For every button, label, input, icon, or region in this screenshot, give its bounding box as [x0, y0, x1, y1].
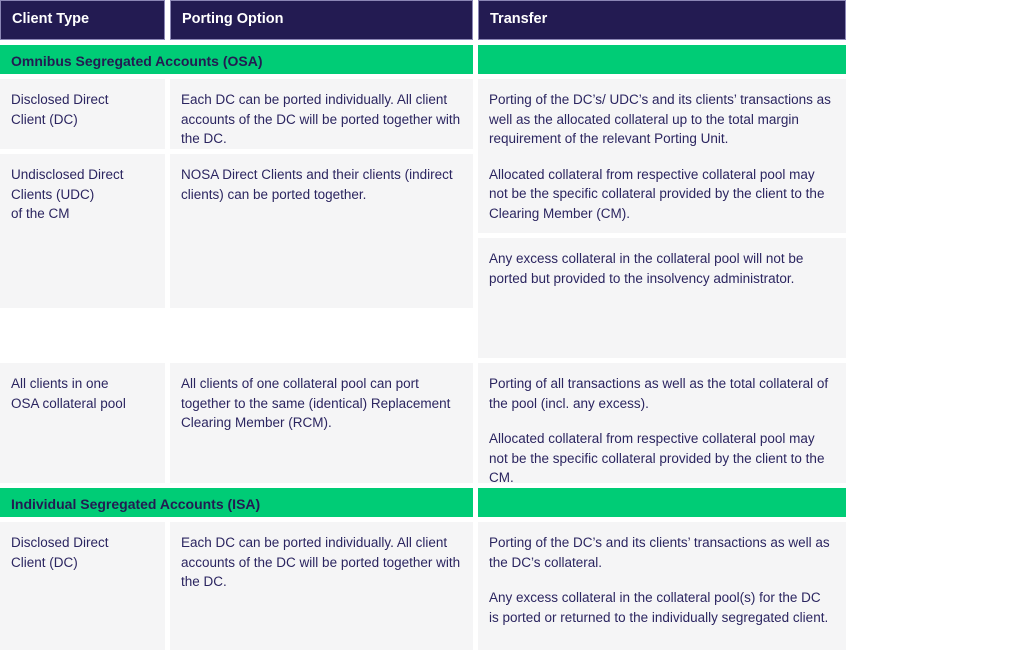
section-banner-osa: Omnibus Segregated Accounts (OSA)	[0, 45, 846, 74]
client-type-line: Client (DC)	[11, 110, 153, 130]
table-row: Disclosed Direct Client (DC) Each DC can…	[0, 522, 846, 650]
table-row: Undisclosed Direct Clients (UDC) of the …	[0, 154, 473, 308]
transfer-paragraph: Porting of the DC’s/ UDC’s and its clien…	[489, 90, 834, 149]
transfer-paragraph: Any excess collateral in the collateral …	[489, 249, 834, 288]
table-row: All clients in one OSA collateral pool A…	[0, 363, 846, 483]
cell-porting-option: Each DC can be ported individually. All …	[170, 79, 473, 149]
client-type-line: OSA collateral pool	[11, 394, 153, 414]
transfer-paragraph: Porting of all transactions as well as t…	[489, 374, 834, 413]
cell-client-type: Disclosed Direct Client (DC)	[0, 522, 165, 650]
section-banner-osa-title: Omnibus Segregated Accounts (OSA)	[0, 45, 473, 74]
porting-options-table: Client Type Porting Option Transfer Omni…	[0, 0, 846, 655]
section-banner-isa: Individual Segregated Accounts (ISA)	[0, 488, 846, 517]
cell-transfer: Porting of all transactions as well as t…	[478, 363, 846, 483]
cell-porting-option: Each DC can be ported individually. All …	[170, 522, 473, 650]
section-banner-isa-title: Individual Segregated Accounts (ISA)	[0, 488, 473, 517]
column-header-porting-option: Porting Option	[170, 0, 473, 40]
client-type-line: All clients in one	[11, 374, 153, 394]
section-banner-osa-transfer-spacer	[478, 45, 846, 74]
osa-left-column-group: Disclosed Direct Client (DC) Each DC can…	[0, 79, 473, 358]
osa-row-group: Disclosed Direct Client (DC) Each DC can…	[0, 79, 846, 358]
cell-transfer: Porting of the DC’s and its clients’ tra…	[478, 522, 846, 650]
client-type-line: Disclosed Direct	[11, 90, 153, 110]
cell-transfer: Porting of the DC’s/ UDC’s and its clien…	[478, 79, 846, 233]
cell-client-type: Undisclosed Direct Clients (UDC) of the …	[0, 154, 165, 308]
cell-client-type: Disclosed Direct Client (DC)	[0, 79, 165, 149]
column-header-transfer: Transfer	[478, 0, 846, 40]
osa-transfer-column-group: Porting of the DC’s/ UDC’s and its clien…	[478, 79, 846, 358]
transfer-paragraph: Allocated collateral from respective col…	[489, 429, 834, 488]
transfer-paragraph: Allocated collateral from respective col…	[489, 165, 834, 224]
table-header-row: Client Type Porting Option Transfer	[0, 0, 846, 40]
cell-porting-option: All clients of one collateral pool can p…	[170, 363, 473, 483]
transfer-paragraph: Porting of the DC’s and its clients’ tra…	[489, 533, 834, 572]
cell-client-type: All clients in one OSA collateral pool	[0, 363, 165, 483]
client-type-line: Client (DC)	[11, 553, 153, 573]
cell-porting-option: NOSA Direct Clients and their clients (i…	[170, 154, 473, 308]
client-type-line: Clients (UDC)	[11, 185, 153, 205]
section-banner-isa-transfer-spacer	[478, 488, 846, 517]
client-type-line: Undisclosed Direct	[11, 165, 153, 185]
client-type-line: of the CM	[11, 204, 153, 224]
column-header-client-type: Client Type	[0, 0, 165, 40]
transfer-paragraph: Any excess collateral in the collateral …	[489, 588, 834, 627]
table-row: Disclosed Direct Client (DC) Each DC can…	[0, 79, 473, 149]
cell-transfer-continued: Any excess collateral in the collateral …	[478, 238, 846, 358]
client-type-line: Disclosed Direct	[11, 533, 153, 553]
